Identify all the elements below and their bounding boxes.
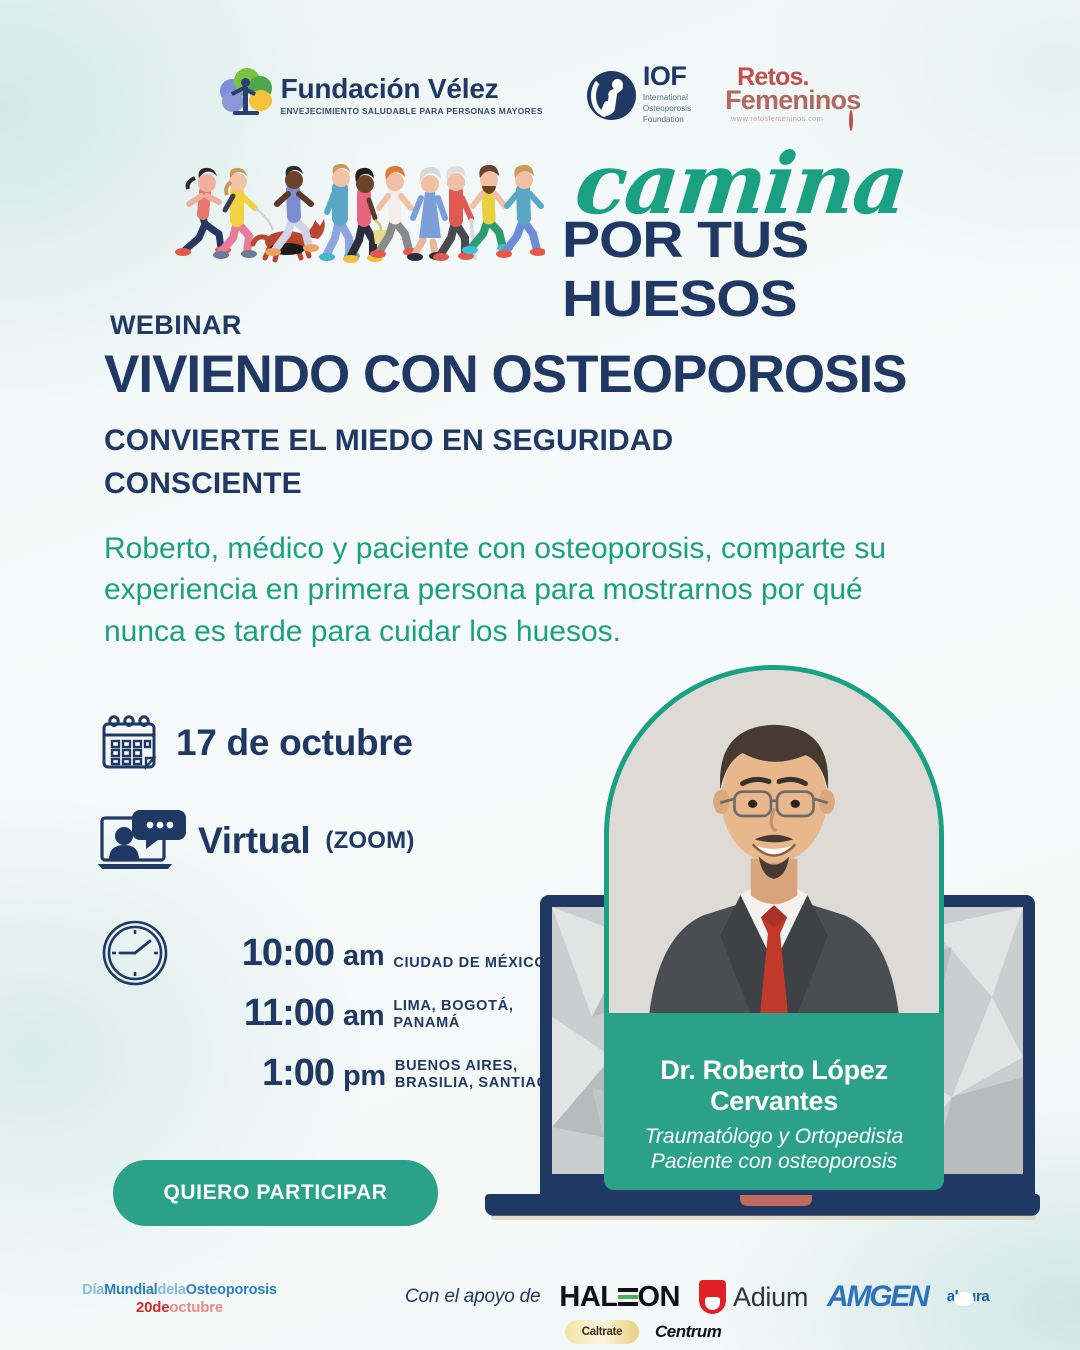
por-tus-huesos-word: POR TUS HUESOS — [562, 210, 981, 328]
clock-icon — [100, 918, 170, 988]
time-hour: 1:00 — [184, 1052, 334, 1095]
time-meridiem: pm — [343, 1060, 386, 1093]
haleon-logo: HALON — [559, 1281, 680, 1314]
page-subtitle: CONVIERTE EL MIEDO EN SEGURIDAD CONSCIEN… — [104, 420, 824, 505]
retos-femeninos-line-2: Femeninos — [725, 89, 860, 112]
description-paragraph: Roberto, médico y paciente con osteoporo… — [104, 528, 904, 652]
wod-day-number: 20de — [136, 1299, 169, 1316]
alpura-logo: alpura — [947, 1288, 990, 1306]
event-format: Virtual — [198, 820, 310, 862]
haleon-name-tail: ON — [638, 1281, 681, 1313]
eyebrow-label: WEBINAR — [110, 310, 242, 341]
laptop-hinge-notch — [740, 1195, 812, 1206]
speaker-role-line-2: Paciente con osteoporosis — [645, 1149, 904, 1174]
time-hour: 10:00 — [184, 932, 334, 975]
retos-femeninos-url: www.retosfemeninos.com — [731, 114, 860, 123]
iof-abbr: IOF — [643, 64, 691, 90]
time-hour: 11:00 — [184, 992, 334, 1035]
centrum-logo: Centrum — [655, 1322, 721, 1342]
venus-symbol-icon — [849, 112, 864, 127]
wod-mundial: Mundial — [104, 1282, 157, 1298]
speaker-name: Dr. Roberto López Cervantes — [618, 1055, 930, 1117]
iof-line-3: Foundation — [643, 115, 691, 126]
video-chat-icon — [96, 808, 188, 874]
event-date: 17 de octubre — [176, 722, 413, 764]
wod-dia: Día — [82, 1282, 104, 1298]
centrum-name: Centrum — [655, 1322, 721, 1341]
wod-month: octubre — [169, 1299, 223, 1316]
fundacion-velez-name: Fundación Vélez — [281, 74, 543, 103]
partner-logo-bar: Fundación Vélez ENVEJECIMIENTO SALUDABLE… — [0, 50, 1080, 140]
speaker-role-line-1: Traumatólogo y Ortopedista — [645, 1124, 904, 1149]
speaker-card: Dr. Roberto López Cervantes Traumatólogo… — [604, 665, 944, 1190]
walking-people-illustration — [175, 142, 545, 272]
campaign-wordmark: camina POR TUS HUESOS — [556, 132, 936, 272]
haleon-e-glyph — [618, 1287, 638, 1308]
iof-figure-icon — [587, 71, 636, 120]
haleon-name-head: HAL — [559, 1281, 617, 1313]
calendar-icon — [98, 712, 160, 774]
time-meridiem: am — [343, 1000, 384, 1033]
caltrate-logo: Caltrate — [565, 1320, 639, 1344]
wod-dela: dela — [158, 1282, 186, 1298]
register-button[interactable]: QUIERO PARTICIPAR — [113, 1160, 438, 1226]
event-platform: (ZOOM) — [325, 827, 414, 855]
wod-osteoporosis: Osteoporosis — [186, 1282, 277, 1298]
fundacion-velez-tagline: ENVEJECIMIENTO SALUDABLE PARA PERSONAS M… — [281, 106, 543, 116]
sponsor-bar: Con el apoyo de HALON Adium AMGEN alpura… — [405, 1280, 1065, 1346]
flyer-page: Fundación Vélez ENVEJECIMIENTO SALUDABLE… — [0, 0, 1080, 1350]
adium-name: Adium — [733, 1282, 808, 1313]
speaker-info-card: Dr. Roberto López Cervantes Traumatólogo… — [604, 1013, 944, 1190]
tree-person-icon — [220, 68, 272, 122]
hero-banner: camina POR TUS HUESOS — [0, 140, 1080, 275]
laptop-shadow — [491, 1215, 1036, 1220]
retos-femeninos-logo: Retos. Femeninos www.retosfemeninos.com — [735, 67, 860, 123]
fundacion-velez-logo: Fundación Vélez ENVEJECIMIENTO SALUDABLE… — [220, 68, 543, 122]
time-meridiem: am — [343, 940, 384, 973]
date-row: 17 de octubre — [98, 712, 413, 774]
format-row: Virtual (ZOOM) — [96, 808, 415, 874]
adium-mark-icon — [699, 1280, 726, 1314]
adium-logo: Adium — [699, 1280, 808, 1314]
support-label: Con el apoyo de — [405, 1286, 540, 1308]
page-title: VIVIENDO CON OSTEOPOROSIS — [104, 348, 907, 402]
world-osteoporosis-day-logo: DíaMundialdelaOsteoporosis 20deoctubre — [72, 1282, 287, 1316]
iof-line-1: International — [643, 93, 691, 104]
iof-logo: IOF International Osteoporosis Foundatio… — [587, 64, 691, 125]
speaker-photo — [604, 665, 944, 1035]
amgen-logo: AMGEN — [827, 1280, 928, 1314]
iof-line-2: Osteoporosis — [643, 104, 691, 115]
